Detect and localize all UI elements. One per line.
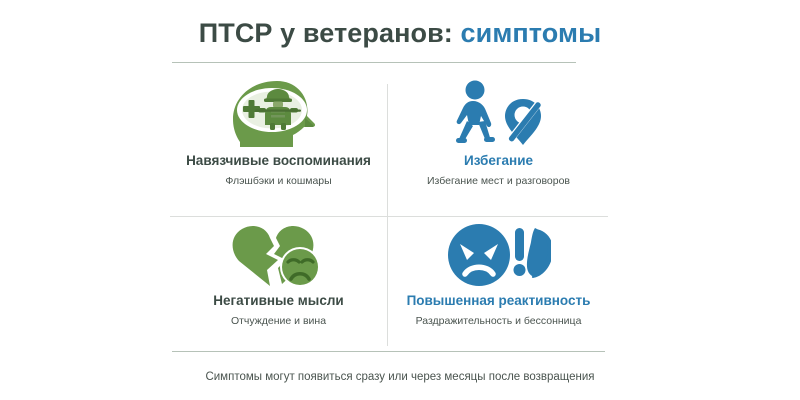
symptom-grid: Навязчивые воспоминания Флэшбэки и кошма… bbox=[170, 76, 608, 348]
quadrant-label: Повышенная реактивность bbox=[407, 293, 591, 309]
quadrant-subtitle: Отчуждение и вина bbox=[231, 314, 326, 328]
quadrant-label: Навязчивые воспоминания bbox=[186, 153, 371, 169]
title-underline-rule bbox=[172, 62, 576, 63]
quadrant-subtitle: Флэшбэки и кошмары bbox=[225, 174, 331, 188]
footer-note: Симптомы могут появиться сразу или через… bbox=[0, 370, 800, 385]
quadrant-subtitle: Избегание мест и разговоров bbox=[427, 174, 570, 188]
grid-vertical-divider bbox=[387, 84, 388, 346]
quadrant-subtitle: Раздражительность и бессонница bbox=[416, 314, 582, 328]
title-block: ПТСР у ветеранов: симптомы bbox=[0, 16, 800, 50]
page-title: ПТСР у ветеранов: симптомы bbox=[0, 16, 800, 50]
title-main-text: ПТСР у ветеранов: bbox=[199, 18, 453, 48]
head-with-soldier-icon bbox=[170, 76, 387, 152]
quadrant-label: Избегание bbox=[464, 153, 533, 169]
footer-rule bbox=[172, 351, 605, 352]
walking-person-no-location-icon bbox=[390, 76, 607, 152]
grid-horizontal-divider bbox=[170, 216, 608, 217]
quadrant-avoidance: Избегание Избегание мест и разговоров bbox=[390, 76, 607, 214]
quadrant-negative-thoughts: Негативные мысли Отчуждение и вина bbox=[170, 218, 387, 356]
title-accent-text: симптомы bbox=[461, 18, 602, 48]
angry-face-exclamation-moon-icon bbox=[390, 218, 607, 292]
infographic-poster: ПТСР у ветеранов: симптомы bbox=[0, 0, 800, 400]
broken-heart-sad-face-icon bbox=[170, 218, 387, 292]
quadrant-label: Негативные мысли bbox=[213, 293, 343, 309]
quadrant-hyperarousal: Повышенная реактивность Раздражительност… bbox=[390, 218, 607, 356]
quadrant-intrusive-memories: Навязчивые воспоминания Флэшбэки и кошма… bbox=[170, 76, 387, 214]
